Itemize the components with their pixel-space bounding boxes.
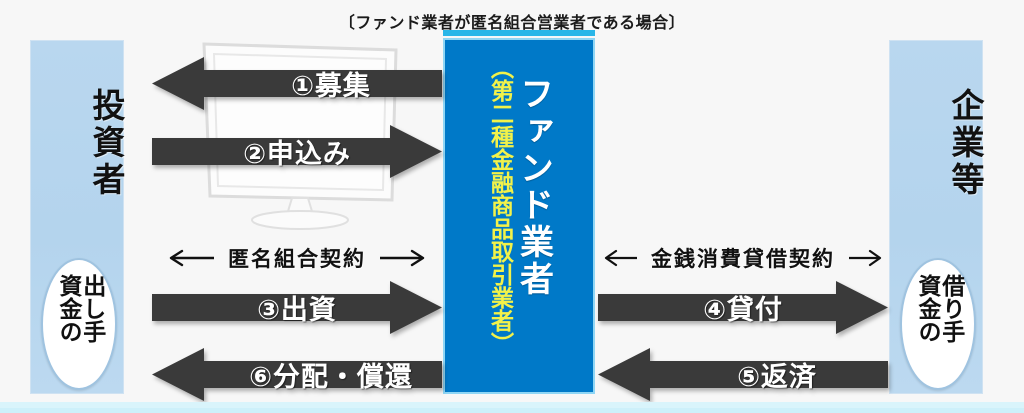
right-actor-title: 企業等 <box>890 63 982 223</box>
arrow-right-icon <box>380 248 426 268</box>
flow-arrow-repayment: ⑤返済 <box>598 348 888 401</box>
bottom-accent-strip <box>0 402 1024 413</box>
center-sub-label: （第二種金融商品取引業者） <box>488 56 511 355</box>
flow-arrow-distribution: ⑥分配・償還 <box>152 348 442 401</box>
left-badge-text-left: 出し手 <box>79 274 103 374</box>
right-badge-text-right: 資金の <box>914 274 938 374</box>
contract-row-right: 金銭消費貸借契約 <box>598 240 888 276</box>
contract-label-left: 匿名組合契約 <box>228 243 366 273</box>
left-badge-text-right: 資金の <box>55 274 79 374</box>
diagram-canvas: 〔ファンド業者が匿名組合営業者である場合〕 投資者 資金の 出し手 企業等 資金… <box>0 0 1024 413</box>
bottom-accent-strip-inner <box>0 408 1024 413</box>
left-actor-panel: 投資者 資金の 出し手 <box>30 40 124 394</box>
title-underline <box>443 30 595 36</box>
center-fund-operator-box: ファンド業者 （第二種金融商品取引業者） <box>443 38 595 394</box>
right-badge-text-left: 借り手 <box>938 274 962 374</box>
flow-arrow-investment: ③出資 <box>152 281 442 334</box>
arrow-right-icon <box>849 248 883 268</box>
contract-row-left: 匿名組合契約 <box>152 240 442 276</box>
flow-arrow-recruit: ①募集 <box>152 57 442 110</box>
contract-label-right: 金銭消費貸借契約 <box>651 243 835 273</box>
flow-arrow-lending: ④貸付 <box>598 281 888 334</box>
center-main-label: ファンド業者 <box>517 76 551 298</box>
arrow-left-icon <box>168 248 214 268</box>
right-actor-panel: 企業等 資金の 借り手 <box>889 40 983 394</box>
left-actor-title: 投資者 <box>31 63 123 223</box>
flow-arrow-application: ②申込み <box>152 125 442 178</box>
right-actor-badge: 資金の 借り手 <box>900 258 976 390</box>
arrow-left-icon <box>603 248 637 268</box>
left-actor-badge: 資金の 出し手 <box>41 258 117 390</box>
